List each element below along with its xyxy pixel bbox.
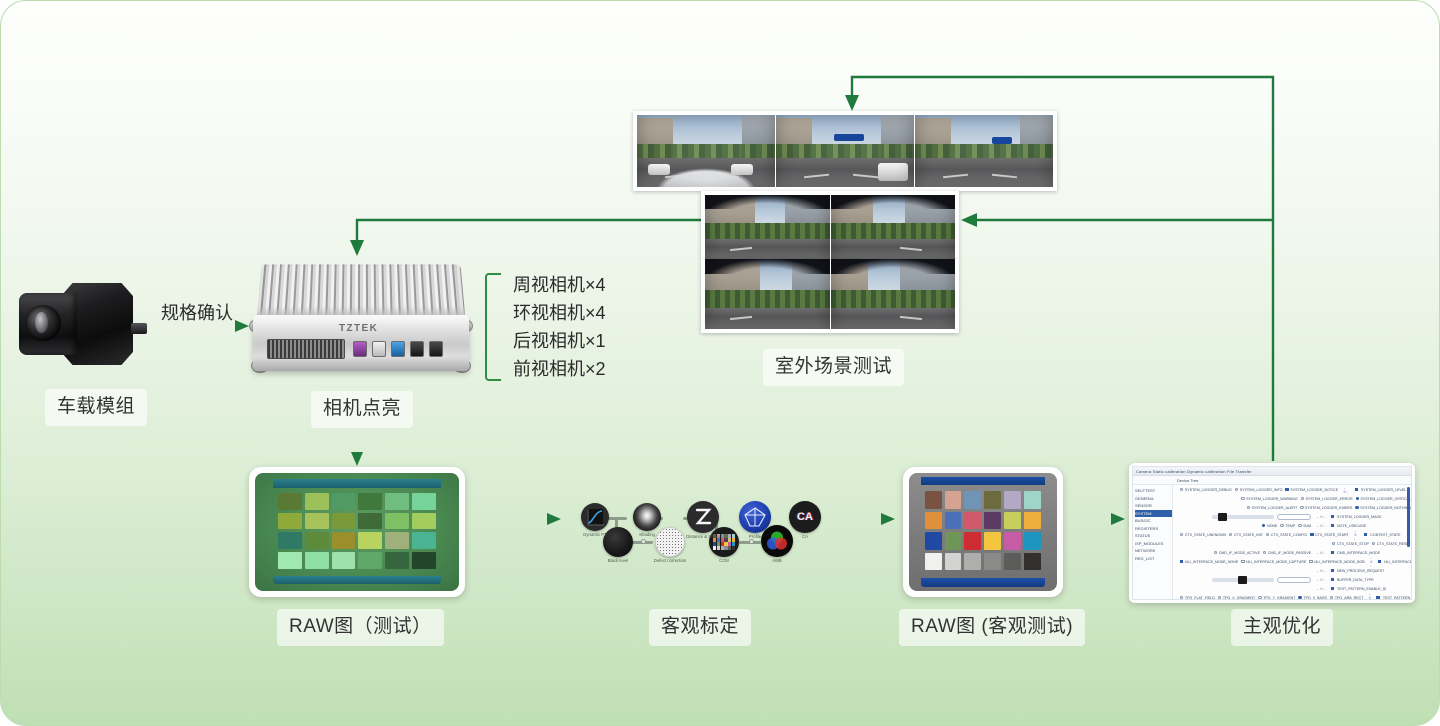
software-tree-item-network[interactable]: NETWORK	[1135, 547, 1172, 555]
camera-list-item-3: 前视相机×2	[513, 355, 606, 383]
green-patch-20	[332, 552, 356, 569]
software-row-indicator	[1378, 560, 1381, 563]
photo-front-right	[915, 115, 1053, 187]
ecu-brand-label: TZTEK	[339, 323, 378, 334]
calib-node-ca: CA	[789, 501, 821, 533]
objective-patch-23	[1024, 553, 1041, 571]
edge-raw-objective-to-subjective	[1073, 513, 1125, 525]
software-settings-row: ⌄ ⚙ ↓TEST_PATTERN_ENABLE_ID	[1174, 584, 1411, 593]
software-option[interactable]: SYSTEM_LOGGER_CRITICAL	[1356, 497, 1411, 501]
camera-list-item-0: 周视相机×4	[513, 271, 606, 299]
software-settings-row: SYSTEM_LOGGER_ALERTSYSTEM_LOGGER_EMERGSY…	[1174, 503, 1411, 512]
software-option-label: TPG_ARB_RECT	[1335, 596, 1364, 600]
objective-patch-12	[925, 532, 942, 550]
photo-rear-right	[831, 259, 956, 329]
ecu-chassis: TZTEK	[253, 315, 469, 371]
objective-patch-22	[1004, 553, 1021, 571]
software-option-label: SYSTEM_LOGGER_CRITICAL	[1360, 497, 1411, 501]
objective-patch-19	[945, 553, 962, 571]
software-option-label: CTX_STATE_STOP	[1337, 542, 1369, 546]
software-option[interactable]: SYSTEM_LOGGER_ERROR	[1301, 497, 1353, 501]
software-titlebar: Camera Static calibration Dynamic calibr…	[1133, 467, 1411, 476]
software-scrollbar[interactable]	[1407, 487, 1410, 547]
software-option-label: SYSTEM_LOGGER_NOTICE	[1290, 488, 1338, 492]
calib-caption-1: Shading	[627, 532, 667, 537]
software-tree-item-general[interactable]: GENERAL	[1135, 495, 1172, 503]
software-radio[interactable]	[1258, 596, 1261, 599]
green-patch-16	[385, 532, 409, 549]
software-tree-item-sensor[interactable]: SENSOR	[1135, 502, 1172, 510]
label-raw-test: RAW图（测试）	[277, 609, 444, 646]
software-row-key: NOTE_USECASE	[1337, 524, 1411, 528]
software-value-field[interactable]	[1277, 577, 1311, 583]
software-radio[interactable]	[1301, 497, 1304, 500]
software-checkbox[interactable]	[1310, 533, 1313, 536]
software-option[interactable]: SYSTEM_LOGGER_NOTHING	[1355, 506, 1411, 510]
green-chart-top-bar	[273, 479, 440, 487]
software-row-controls[interactable]: ⌄ ⚙ ↓	[1343, 486, 1349, 494]
objective-raw-screen	[909, 473, 1057, 591]
software-radio[interactable]	[1262, 524, 1265, 527]
calib-node-dynamic-pt	[581, 503, 609, 531]
green-patch-3	[358, 493, 382, 510]
software-row-key: TEST_PATTERN_ENABLE_ID	[1337, 587, 1411, 591]
software-option[interactable]: CTX_STATE_CONFIG	[1266, 533, 1307, 537]
software-row-key: CMD_INTERFACE_MODE	[1337, 551, 1411, 555]
objective-patch-14	[964, 532, 981, 550]
camera-lens-icon	[25, 305, 61, 341]
green-patch-8	[332, 513, 356, 530]
software-settings-row: ⌄ ⚙ ↓BUFFER_DATA_TYPE	[1174, 575, 1411, 584]
software-row-indicator	[1331, 515, 1334, 518]
software-tree-item-isp-modules[interactable]: ISP_MODULES	[1135, 540, 1172, 548]
software-option[interactable]: CTX_STATE_UNKNOWN	[1180, 533, 1226, 537]
software-option-label: TPG_X_GRADIENT	[1223, 596, 1255, 600]
outdoor-photo-row-bottom	[701, 259, 959, 333]
software-row-indicator	[1331, 551, 1334, 554]
software-row-indicator	[1331, 524, 1334, 527]
software-radio[interactable]	[1356, 497, 1359, 500]
software-option[interactable]: TPG_ARB_RECT	[1330, 596, 1363, 600]
objective-patch-10	[1004, 512, 1021, 530]
software-tree-item-bus-i2c[interactable]: BUS/I2C	[1135, 517, 1172, 525]
software-row-key: SYSTEM_LOGGER_LEVEL	[1361, 488, 1411, 492]
software-option-label: SYSTEM_LOGGER_DEBUG	[1185, 488, 1232, 492]
green-patch-11	[412, 513, 436, 530]
software-option[interactable]: CTX_STATE_START	[1310, 533, 1349, 537]
software-option[interactable]: I4LI_INTERFACE_MODE_CAPTURE	[1241, 560, 1306, 564]
green-patch-18	[278, 552, 302, 569]
objective-patch-11	[1024, 512, 1041, 530]
green-patch-15	[358, 532, 382, 549]
camera-list: 周视相机×4 环视相机×4 后视相机×1 前视相机×2	[513, 271, 606, 383]
software-settings-row: CMD_IF_MODE_ACTIVECMD_IF_MODE_PASSIVE⌄ ⚙…	[1174, 548, 1411, 557]
objective-patch-0	[925, 491, 942, 509]
green-patch-23	[412, 552, 436, 569]
green-patch-14	[332, 532, 356, 549]
software-value-field[interactable]	[1277, 514, 1311, 520]
software-radio[interactable]	[1180, 596, 1183, 599]
software-slider[interactable]	[1212, 515, 1274, 519]
software-option-label: CTX_STATE_CONFIG	[1271, 533, 1307, 537]
software-slider-knob[interactable]	[1238, 576, 1247, 584]
software-slider[interactable]	[1212, 578, 1274, 582]
software-toolbar: Device Tree	[1133, 476, 1411, 485]
software-radio[interactable]	[1247, 506, 1250, 509]
software-option[interactable]: CMD_IF_MODE_PASSIVE	[1263, 551, 1311, 555]
calib-caption-3: Profile	[735, 534, 775, 539]
ecu-port-fakra-blue	[391, 341, 405, 357]
software-option-label: TPG_V_BARS	[1303, 596, 1327, 600]
software-radio[interactable]	[1332, 542, 1335, 545]
software-row-key: I4LI_INTERFACE_MODE	[1384, 560, 1411, 564]
software-option[interactable]: CTX_STATE_STOP	[1332, 542, 1369, 546]
software-option[interactable]: CMD_IF_MODE_ACTIVE	[1214, 551, 1260, 555]
software-option[interactable]: SYSTEM_LOGGER_DEBUG	[1180, 488, 1232, 492]
calib-caption-6: Defect correction	[647, 558, 693, 563]
software-option-label: SYSTEM_LOGGER_NOTHING	[1360, 506, 1411, 510]
green-patch-1	[305, 493, 329, 510]
software-option-label: SYSTEM_LOGGER_WARNING	[1246, 497, 1297, 501]
software-settings-row: CTX_STATE_STOPCTX_STATE_RESET	[1174, 539, 1411, 548]
objective-patch-7	[945, 512, 962, 530]
green-raw-screen	[255, 473, 459, 591]
software-option[interactable]: SYSTEM_LOGGER_EMERG	[1300, 506, 1352, 510]
software-radio[interactable]	[1372, 542, 1375, 545]
software-option-label: CTX_STATE_UNKNOWN	[1185, 533, 1226, 537]
software-tree-item-registers[interactable]: REGISTERS	[1135, 525, 1172, 533]
software-option[interactable]: SYSTEM_LOGGER_NOTICE	[1285, 488, 1338, 492]
software-row-indicator	[1331, 587, 1334, 590]
photo-front-left	[637, 115, 775, 187]
ecu-port-fakra-black1	[410, 341, 424, 357]
green-patch-17	[412, 532, 436, 549]
green-patch-7	[305, 513, 329, 530]
camera-module-icon	[19, 279, 149, 369]
calib-caption-2: Distance & Sharp	[677, 534, 729, 539]
label-raw-objective-test: RAW图 (客观测试)	[899, 609, 1085, 646]
software-row-indicator	[1364, 533, 1367, 536]
software-option-label: SYSTEM_LOGGER_ALERT	[1251, 506, 1297, 510]
software-radio[interactable]	[1355, 506, 1358, 509]
objective-patch-4	[1004, 491, 1021, 509]
software-row-indicator	[1331, 578, 1334, 581]
camera-barrel	[19, 293, 77, 355]
green-patch-0	[278, 493, 302, 510]
label-spec-confirm: 规格确认	[161, 299, 233, 325]
software-tree-panel[interactable]: SELFTESTGENERALSENSORSYSTEMBUS/I2CREGIST…	[1133, 485, 1173, 599]
objective-patch-grid	[925, 491, 1042, 570]
software-option-label: TEMP	[1285, 524, 1295, 528]
software-option-label: CMD_IF_MODE_ACTIVE	[1219, 551, 1260, 555]
software-option[interactable]: SYSTEM_LOGGER_WARNING	[1241, 497, 1297, 501]
green-patch-5	[412, 493, 436, 510]
software-option-label: TPG_FLAT_FIELD	[1185, 596, 1215, 600]
software-option-label: I4LI_INTERFACE_MODE_BOB	[1314, 560, 1365, 564]
software-settings-row: TPG_FLAT_FIELDTPG_X_GRADIENTTPG_Y_GRADIE…	[1174, 593, 1411, 599]
camera-list-item-2: 后视相机×1	[513, 327, 606, 355]
photo-surround-left	[705, 195, 830, 259]
calib-caption-8: AWB	[757, 558, 797, 563]
software-settings-row: SYSTEM_LOGGER_DEBUGSYSTEM_LOGGER_INFOSYS…	[1174, 485, 1411, 494]
software-row-controls[interactable]: ⌄ ⚙ ↓	[1316, 569, 1325, 573]
software-option[interactable]: TEMP	[1280, 524, 1295, 528]
software-radio[interactable]	[1241, 497, 1244, 500]
software-radio[interactable]	[1218, 596, 1221, 599]
software-option[interactable]: TPG_X_GRADIENT	[1218, 596, 1255, 600]
photo-surround-right	[831, 195, 956, 259]
software-row-indicator	[1355, 488, 1358, 491]
software-row-controls[interactable]: ⌄ ⚙ ↓	[1316, 515, 1325, 519]
software-row-key: SYSTEM_LOGGER_MASK	[1337, 515, 1411, 519]
objective-patch-13	[945, 532, 962, 550]
software-radio[interactable]	[1266, 533, 1269, 536]
software-checkbox[interactable]	[1241, 560, 1244, 563]
objective-patch-21	[984, 553, 1001, 571]
objective-patch-9	[984, 512, 1001, 530]
ecu-main-connector	[267, 339, 345, 359]
software-settings-row: ⌄ ⚙ ↓NEW_PROCESS_REQUEST	[1174, 566, 1411, 575]
calib-caption-0: Dynamic PT	[575, 532, 615, 537]
green-patch-4	[385, 493, 409, 510]
software-settings-panel[interactable]: SYSTEM_LOGGER_DEBUGSYSTEM_LOGGER_INFOSYS…	[1174, 485, 1411, 599]
diagram-canvas: 车载模组 规格确认 TZTEK 相机点亮 周视相机×4 环视相机×4 后视相机×…	[0, 0, 1440, 726]
objective-patch-1	[945, 491, 962, 509]
software-row-key: CONTEXT_STATE	[1370, 533, 1411, 537]
label-outdoor-scene-test: 室外场景测试	[763, 349, 904, 386]
green-patch-grid	[278, 493, 435, 568]
calib-caption-5: Black level	[597, 558, 639, 563]
label-objective-calibration: 客观标定	[649, 609, 751, 646]
calib-caption-7: CCM	[705, 558, 743, 563]
software-option-label: CTX_STATE_START	[1315, 533, 1349, 537]
green-chart-bottom-bar	[273, 576, 440, 584]
software-option-label: CTX_STATE_RESET	[1377, 542, 1411, 546]
software-option[interactable]: SYSTEM_LOGGER_ALERT	[1247, 506, 1298, 510]
software-settings-row: SYSTEM_LOGGER_WARNINGSYSTEM_LOGGER_ERROR…	[1174, 494, 1411, 503]
calib-node-distance-sharp	[687, 501, 719, 533]
objective-chart-frame	[921, 482, 1045, 579]
software-row-controls[interactable]: ⌄ ⚙ ↓	[1354, 529, 1359, 541]
software-tree-item-status[interactable]: STATUS	[1135, 532, 1172, 540]
software-row-indicator	[1331, 569, 1334, 572]
green-patch-19	[305, 552, 329, 569]
software-radio[interactable]	[1300, 506, 1303, 509]
software-checkbox[interactable]	[1180, 560, 1183, 563]
label-camera-module: 车载模组	[45, 389, 147, 426]
photo-rear-left	[705, 259, 830, 329]
software-option-label: SUM	[1303, 524, 1311, 528]
edge-subjective-to-outdoor-mid	[961, 213, 1273, 227]
software-tree-item-system[interactable]: SYSTEM	[1135, 510, 1172, 518]
ecu-port-group	[353, 341, 443, 357]
software-option[interactable]: SUM	[1298, 524, 1311, 528]
software-radio[interactable]	[1263, 551, 1266, 554]
software-row-controls[interactable]: ⌄ ⚙ ↓	[1316, 578, 1325, 582]
software-option-label: SYSTEM_LOGGER_INFO	[1240, 488, 1283, 492]
calibration-flow-icon: CA Dynamic PT Shading Distance & Sharp P…	[567, 485, 823, 573]
camera-list-item-1: 环视相机×4	[513, 299, 606, 327]
software-radio[interactable]	[1235, 488, 1238, 491]
green-patch-21	[358, 552, 382, 569]
software-option-label: NONE	[1267, 524, 1277, 528]
software-option[interactable]: TPG_FLAT_FIELD	[1180, 596, 1215, 600]
software-row-controls[interactable]: ⌄ ⚙ ↓	[1316, 551, 1325, 555]
software-option[interactable]: NONE	[1262, 524, 1277, 528]
objective-chart-bottom-bar	[921, 578, 1045, 587]
edge-raw-to-calibration	[479, 513, 561, 525]
software-row-controls[interactable]: ⌄ ⚙ ↓	[1316, 587, 1325, 591]
software-option-label: SYSTEM_LOGGER_ERROR	[1305, 497, 1352, 501]
software-radio[interactable]	[1180, 488, 1183, 491]
ecu-heatsink	[256, 264, 465, 321]
green-patch-2	[332, 493, 356, 510]
objective-patch-20	[964, 553, 981, 571]
software-option[interactable]: CTX_STATE_RESET	[1372, 542, 1411, 546]
software-radio[interactable]	[1214, 551, 1217, 554]
software-radio[interactable]	[1280, 524, 1283, 527]
green-patch-13	[305, 532, 329, 549]
camera-list-bracket	[485, 273, 501, 381]
green-patch-10	[385, 513, 409, 530]
objective-chart-top-bar	[921, 477, 1045, 486]
ecu-port-fakra-purple	[353, 341, 367, 357]
software-slider-knob[interactable]	[1218, 513, 1227, 521]
software-checkbox[interactable]	[1285, 488, 1288, 491]
software-option[interactable]: CTX_STATE_INIT	[1229, 533, 1263, 537]
software-row-controls[interactable]: ⌄ ⚙ ↓	[1370, 556, 1373, 568]
software-settings-row: ⌄ ⚙ ↓SYSTEM_LOGGER_MASK	[1174, 512, 1411, 521]
green-chart-frame	[273, 485, 440, 577]
software-option-label: CMD_IF_MODE_PASSIVE	[1268, 551, 1311, 555]
software-row-controls[interactable]: ⌄ ⚙ ↓	[1316, 524, 1325, 528]
objective-patch-5	[1024, 491, 1041, 509]
software-tree-item-selftest[interactable]: SELFTEST	[1135, 487, 1172, 495]
ecu-port-fakra-black2	[429, 341, 443, 357]
software-row-key: BUFFER_DATA_TYPE	[1337, 578, 1411, 582]
green-patch-6	[278, 513, 302, 530]
green-patch-9	[358, 513, 382, 530]
objective-patch-2	[964, 491, 981, 509]
calib-node-awb	[761, 525, 793, 557]
calib-node-ccm	[709, 527, 739, 557]
objective-patch-8	[964, 512, 981, 530]
camera-connector	[131, 323, 147, 334]
software-option-label: CTX_STATE_INIT	[1234, 533, 1263, 537]
software-settings-row: CTX_STATE_UNKNOWNCTX_STATE_INITCTX_STATE…	[1174, 530, 1411, 539]
green-colorchecker-monitor-icon	[249, 467, 465, 597]
outdoor-photo-row-middle	[701, 191, 959, 259]
edge-calibration-to-raw-objective	[833, 513, 895, 525]
green-patch-12	[278, 532, 302, 549]
software-radio[interactable]	[1229, 533, 1232, 536]
objective-patch-15	[984, 532, 1001, 550]
software-checkbox[interactable]	[1309, 560, 1312, 563]
software-option-label: SYSTEM_LOGGER_EMERG	[1305, 506, 1352, 510]
software-settings-row: NONETEMPSUM⌄ ⚙ ↓NOTE_USECASE	[1174, 521, 1411, 530]
objective-patch-6	[925, 512, 942, 530]
software-option[interactable]: I4LI_INTERFACE_MODE_BOB	[1309, 560, 1364, 564]
software-window: Camera Static calibration Dynamic calibr…	[1132, 466, 1412, 600]
software-option[interactable]: TPG_Y_GRADIENT	[1258, 596, 1295, 600]
outdoor-photo-row-top	[633, 111, 1057, 191]
software-radio[interactable]	[1180, 533, 1183, 536]
software-radio[interactable]	[1330, 596, 1333, 599]
objective-patch-3	[984, 491, 1001, 509]
ecu-controller-icon: TZTEK	[249, 263, 473, 381]
software-radio[interactable]	[1298, 596, 1301, 599]
software-row-key: NEW_PROCESS_REQUEST	[1337, 569, 1411, 573]
software-row-key: TEST_PATTERN_MODE_ID	[1383, 596, 1411, 600]
label-camera-power-on: 相机点亮	[311, 391, 413, 428]
label-subjective-optimization: 主观优化	[1231, 609, 1333, 646]
software-option-label: TPG_Y_GRADIENT	[1263, 596, 1295, 600]
software-option-label: I4LI_INTERFACE_MODE_NONE	[1185, 560, 1238, 564]
photo-front-center	[776, 115, 914, 187]
calib-caption-4: CA	[785, 534, 825, 539]
objective-patch-18	[925, 553, 942, 571]
software-radio[interactable]	[1298, 524, 1301, 527]
software-option[interactable]: TPG_V_BARS	[1298, 596, 1326, 600]
objective-patch-17	[1024, 532, 1041, 550]
calib-node-shading	[633, 503, 661, 531]
software-settings-row: I4LI_INTERFACE_MODE_NONEI4LI_INTERFACE_M…	[1174, 557, 1411, 566]
software-option[interactable]: I4LI_INTERFACE_MODE_NONE	[1180, 560, 1238, 564]
green-patch-22	[385, 552, 409, 569]
tuning-software-panel-icon[interactable]: Camera Static calibration Dynamic calibr…	[1129, 463, 1415, 603]
edge-outdoor-to-ecu	[350, 220, 701, 256]
objective-patch-16	[1004, 532, 1021, 550]
software-tree-item-reg-list[interactable]: REG_LIST	[1135, 555, 1172, 563]
software-row-controls[interactable]: ⌄ ⚙ ↓	[1368, 592, 1371, 600]
ecu-port-fakra-white	[372, 341, 386, 357]
colorchecker-monitor-icon	[903, 467, 1063, 597]
software-row-indicator	[1376, 596, 1379, 599]
software-option-label: I4LI_INTERFACE_MODE_CAPTURE	[1246, 560, 1306, 564]
software-option[interactable]: SYSTEM_LOGGER_INFO	[1235, 488, 1283, 492]
